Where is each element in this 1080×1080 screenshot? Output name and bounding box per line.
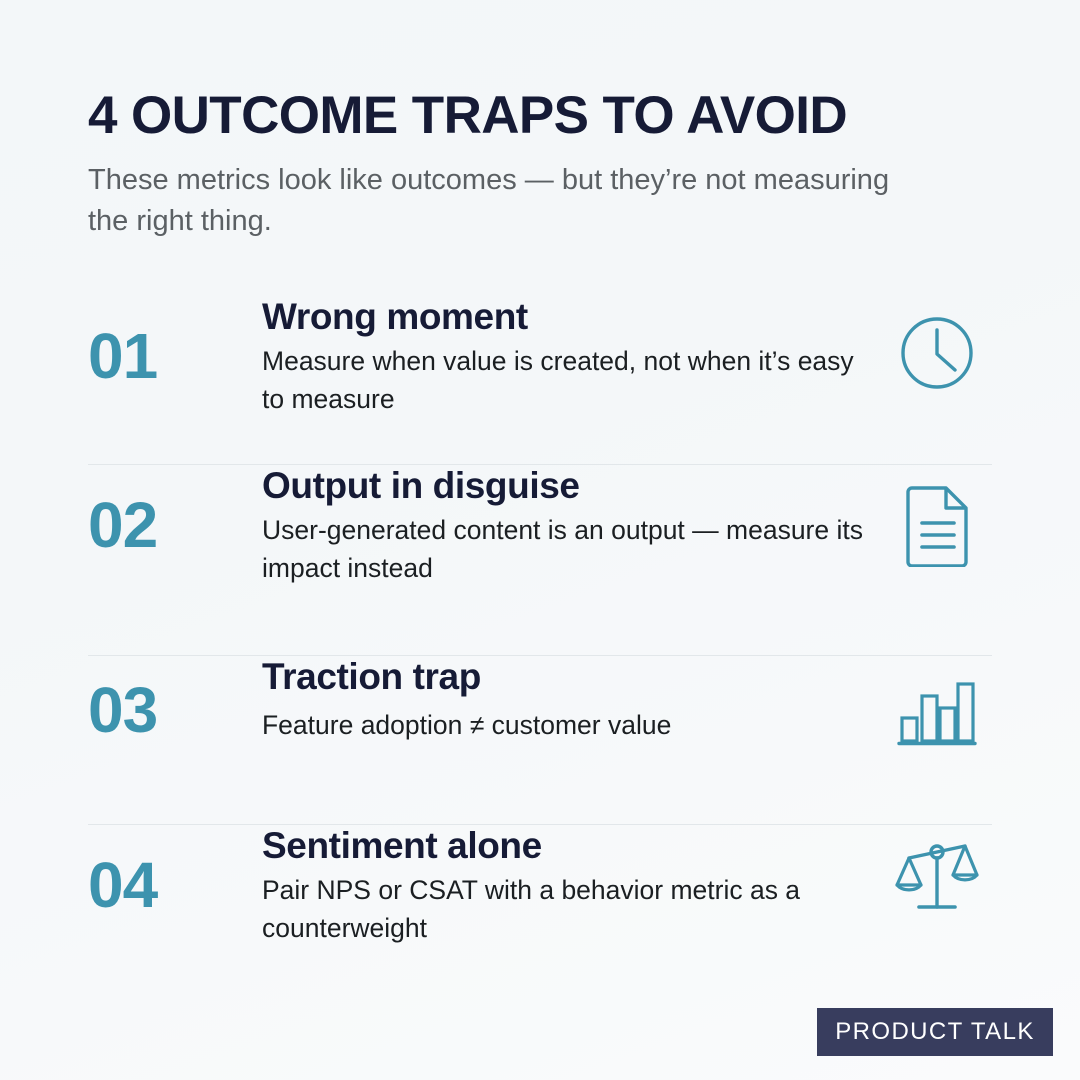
page-title: 4 OUTCOME TRAPS TO AVOID	[88, 88, 998, 144]
list-item-body: Wrong moment Measure when value is creat…	[262, 296, 882, 419]
list-item: 01 Wrong moment Measure when value is cr…	[88, 296, 992, 464]
list-item-number: 01	[88, 296, 262, 388]
list-item-number: 02	[88, 465, 262, 557]
clock-icon	[882, 296, 992, 392]
balance-scale-icon	[882, 825, 992, 919]
list-item-title: Output in disguise	[262, 465, 868, 506]
trap-list: 01 Wrong moment Measure when value is cr…	[88, 296, 992, 995]
list-item: 03 Traction trap Feature adoption ≠ cust…	[88, 656, 992, 824]
list-item-title: Traction trap	[262, 656, 868, 697]
list-item-description: User-generated content is an output — me…	[262, 512, 868, 587]
list-item-title: Sentiment alone	[262, 825, 868, 866]
list-item-number: 04	[88, 825, 262, 917]
brand-badge-label: PRODUCT TALK	[835, 1018, 1035, 1046]
list-item-body: Sentiment alone Pair NPS or CSAT with a …	[262, 825, 882, 948]
header: 4 OUTCOME TRAPS TO AVOID These metrics l…	[88, 88, 998, 242]
list-item-body: Traction trap Feature adoption ≠ custome…	[262, 656, 882, 745]
page-subtitle: These metrics look like outcomes — but t…	[88, 160, 918, 242]
list-item-number: 03	[88, 656, 262, 742]
document-icon	[882, 465, 992, 567]
list-item-title: Wrong moment	[262, 296, 868, 337]
list-item-description: Pair NPS or CSAT with a behavior metric …	[262, 872, 868, 947]
list-item-description: Feature adoption ≠ customer value	[262, 707, 868, 745]
list-item-description: Measure when value is created, not when …	[262, 343, 868, 418]
list-item: 02 Output in disguise User-generated con…	[88, 465, 992, 655]
bar-chart-icon	[882, 656, 992, 748]
list-item-body: Output in disguise User-generated conten…	[262, 465, 882, 588]
infographic-canvas: 4 OUTCOME TRAPS TO AVOID These metrics l…	[0, 0, 1080, 1080]
list-item: 04 Sentiment alone Pair NPS or CSAT with…	[88, 825, 992, 995]
brand-badge: PRODUCT TALK	[817, 1008, 1053, 1056]
